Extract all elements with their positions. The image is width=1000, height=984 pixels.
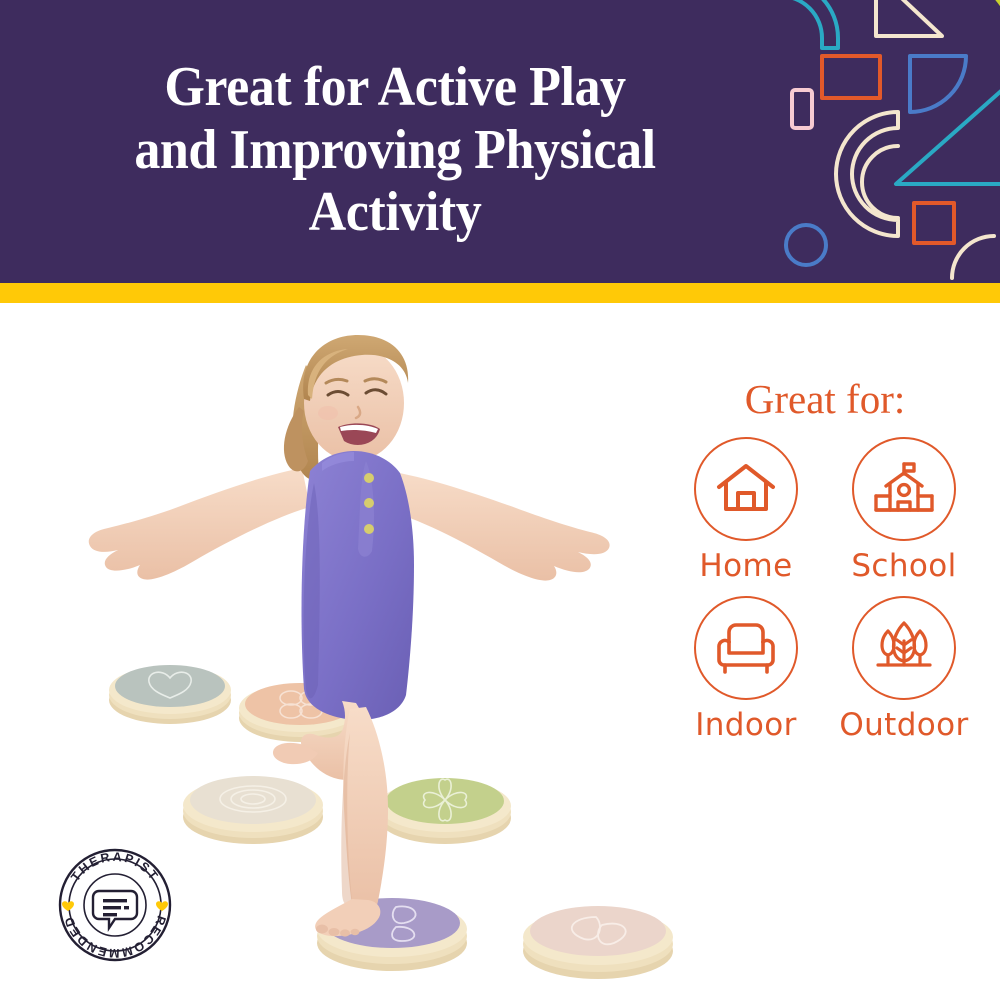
house-icon (694, 437, 798, 541)
great-for-item-home[interactable]: Home (670, 437, 822, 584)
headline-line-2: and Improving Physical (28, 119, 763, 182)
great-for-label-home: Home (699, 548, 792, 584)
great-for-item-school[interactable]: School (828, 437, 980, 584)
badge-top-text: THERAPIST (68, 850, 162, 884)
product-photo-stage: THERAPIST RECOMMENDED Great for: (0, 303, 1000, 984)
great-for-item-outdoor[interactable]: Outdoor (828, 596, 980, 743)
great-for-label-outdoor: Outdoor (839, 707, 968, 743)
therapist-recommended-seal: THERAPIST RECOMMENDED (55, 845, 175, 965)
headline-line-3: Activity (28, 181, 763, 244)
great-for-label-school: School (851, 548, 956, 584)
geometric-outline-pattern (770, 0, 1000, 283)
trees-icon (852, 596, 956, 700)
armchair-icon (694, 596, 798, 700)
school-building-icon (852, 437, 956, 541)
page-headline: Great for Active Play and Improving Phys… (28, 56, 763, 244)
header-banner: Great for Active Play and Improving Phys… (0, 0, 1000, 283)
great-for-panel: Great for: Home (660, 375, 990, 743)
headline-line-1: Great for Active Play (28, 56, 763, 119)
great-for-icon-grid: Home School (660, 437, 990, 743)
great-for-label-indoor: Indoor (695, 707, 797, 743)
svg-text:THERAPIST: THERAPIST (68, 850, 162, 884)
great-for-title: Great for: (660, 375, 990, 423)
great-for-item-indoor[interactable]: Indoor (670, 596, 822, 743)
speech-bubble-icon (93, 891, 137, 928)
accent-bar (0, 283, 1000, 303)
